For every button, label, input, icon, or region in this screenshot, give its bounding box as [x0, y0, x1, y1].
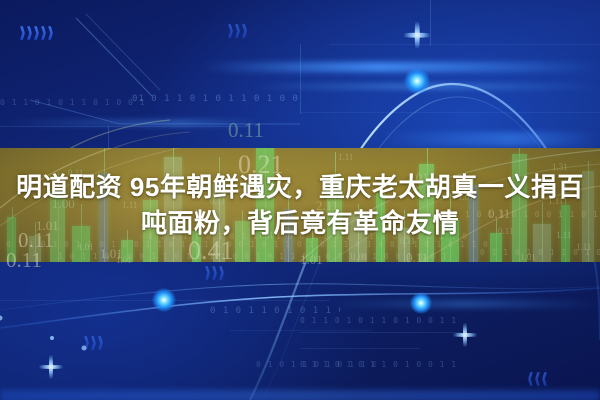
tech-line [330, 44, 600, 45]
tech-line [108, 126, 109, 150]
chevron-left-icon [528, 372, 547, 386]
sparkle-star-icon [34, 350, 68, 384]
background-glow-band [200, 62, 600, 72]
sparkle-star-icon [398, 16, 436, 54]
background-glow-band [380, 132, 600, 146]
overlay-number: 0.11 [228, 118, 264, 143]
tech-line [430, 0, 431, 46]
background-glow-band [250, 84, 600, 89]
background-glow-band [0, 120, 260, 126]
tech-line [300, 44, 301, 114]
headline-block: 明道配资 95年朝鲜遇灾，重庆老太胡真一义捐百 吨面粉，背后竟有革命友情 [0, 148, 600, 262]
chevron-right-icon [205, 266, 224, 280]
tech-line [300, 332, 460, 333]
glow-node-icon [410, 292, 432, 314]
banner-image: 01 0 1 1 0 1 0 1 1 0 1 0 0 1 1 0 1 0 1 1… [0, 0, 600, 400]
sparkle-star-icon [448, 318, 482, 352]
tech-line [300, 112, 600, 113]
headline-line-2: 吨面粉，背后竟有革命友情 [141, 207, 459, 239]
binary-strip: 01 0 1 1 0 1 0 1 1 0 1 0 0 1 1 0 1 0 1 1… [132, 94, 302, 104]
tech-line [230, 330, 370, 331]
binary-strip: 0 1 1 0 1 0 1 1 0 1 0 0 1 1 0 1 0 1 1 0 … [0, 98, 150, 107]
chevron-right-icon [228, 24, 247, 38]
background-glow-band [330, 300, 600, 308]
binary-strip: 0 1 1 0 1 0 1 1 0 1 0 0 1 1 0 1 0 1 1 0 … [300, 316, 460, 325]
binary-strip: 0 1 1 0 1 0 1 1 0 1 0 0 1 1 0 1 0 1 1 0 … [300, 360, 460, 369]
background-glow-band [0, 390, 600, 400]
glow-node-icon [152, 288, 176, 312]
tech-line [300, 348, 420, 349]
tech-line [0, 126, 250, 127]
binary-strip: 0 1 0 1 1 0 1 0 1 1 0 1 0 0 1 1 0 1 0 1 … [210, 306, 340, 316]
headline-line-1: 明道配资 95年朝鲜遇灾，重庆老太胡真一义捐百 [16, 171, 584, 203]
double-chevron-right-icon [20, 26, 53, 40]
glow-node-icon [404, 68, 430, 94]
chevron-right-icon [84, 336, 103, 350]
tech-line [0, 300, 330, 301]
binary-strip: 0 1 0 1 1 0 1 0 1 1 0 1 0 0 1 1 0 1 0 1 … [256, 360, 376, 369]
